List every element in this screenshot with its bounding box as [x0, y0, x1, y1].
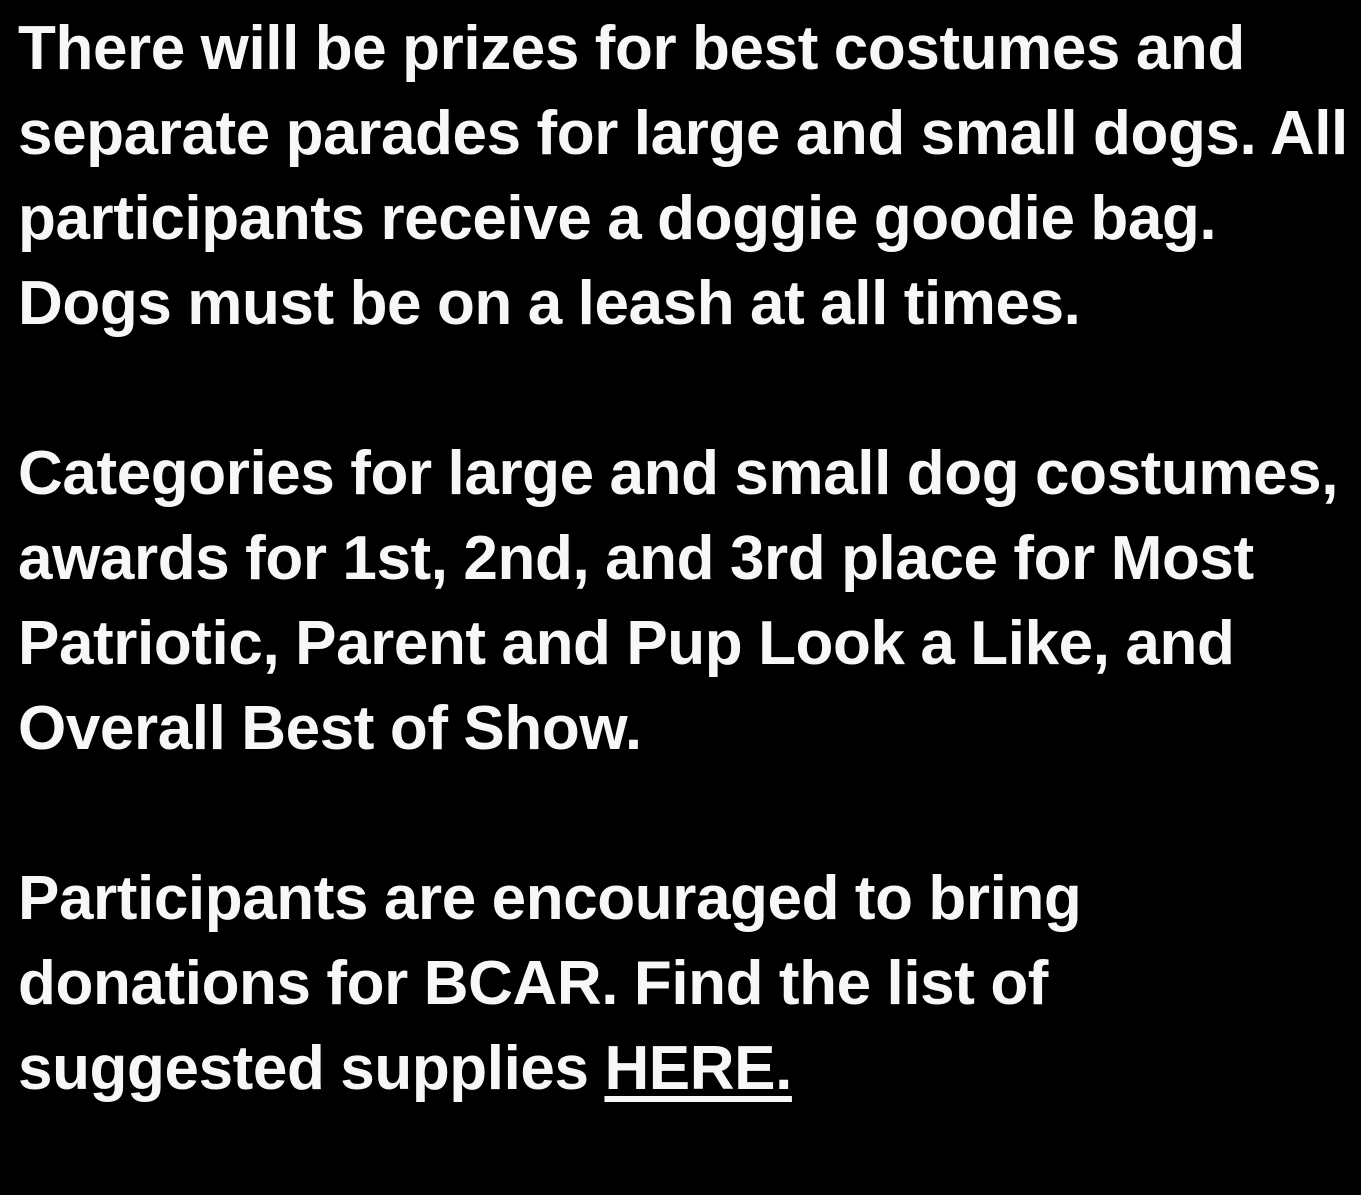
here-link[interactable]: HERE. — [604, 1034, 791, 1103]
paragraph-costume-categories: Categories for large and small dog costu… — [0, 431, 1361, 771]
paragraph-spacer-1 — [0, 346, 1361, 431]
paragraph-spacer-2 — [0, 771, 1361, 856]
paragraph-prizes-and-parades: There will be prizes for best costumes a… — [0, 6, 1361, 346]
paragraph-donations: Participants are encouraged to bring don… — [0, 856, 1361, 1111]
announcement-text-block: There will be prizes for best costumes a… — [0, 0, 1361, 1195]
paragraph-donations-text: Participants are encouraged to bring don… — [18, 864, 1081, 1103]
